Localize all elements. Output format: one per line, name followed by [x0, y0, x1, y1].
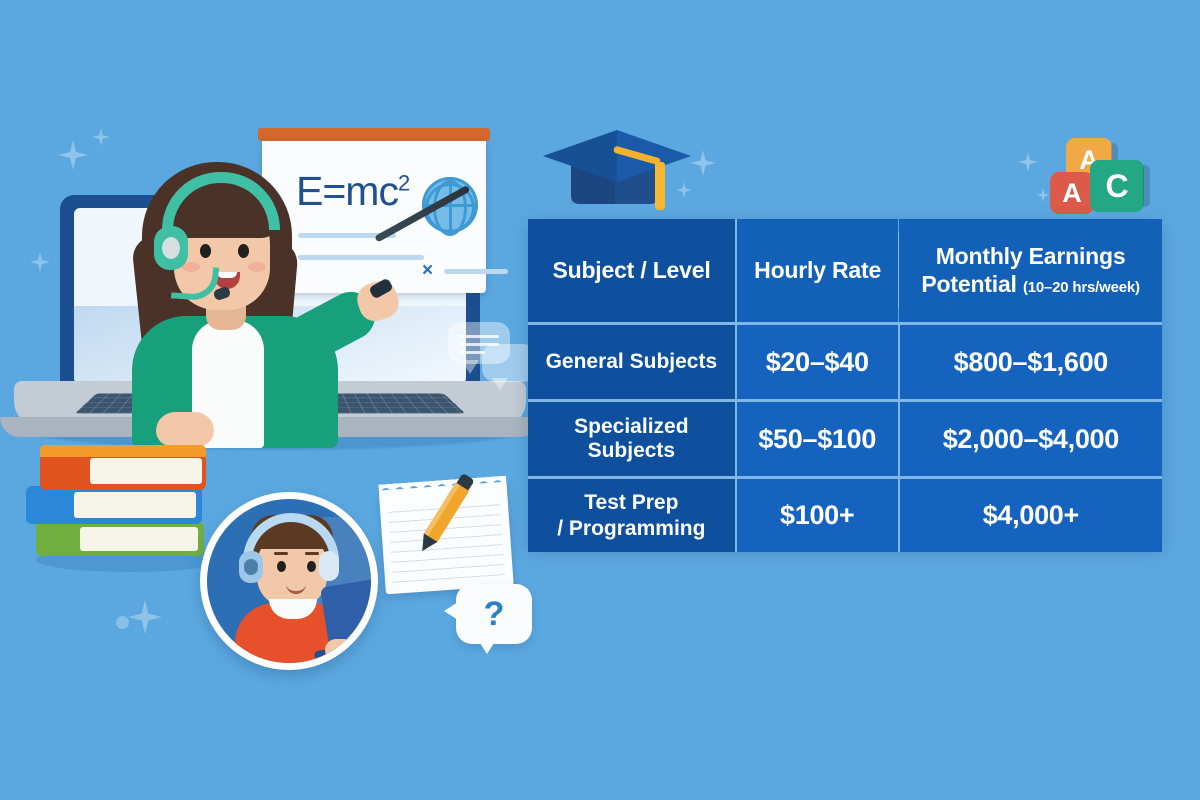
question-mark-icon: ?: [456, 584, 532, 644]
student-eye: [277, 561, 286, 572]
student-hand: [325, 639, 355, 661]
header-line-2-sub: (10–20 hrs/week): [1023, 279, 1140, 296]
sparkle-icon: [690, 150, 716, 176]
cell-subject-line-2: / Programming: [557, 516, 705, 541]
table-row: General Subjects $20–$40 $800–$1,600: [528, 325, 1162, 399]
headphones-earcup-icon: [239, 551, 263, 583]
sparkle-icon: [30, 252, 50, 272]
tutor-eye: [238, 244, 249, 258]
tutor-figure: [118, 140, 378, 430]
tutor-eye: [200, 244, 211, 258]
infographic-canvas: E=mc2 ×: [0, 0, 1200, 800]
x-mark-icon: ×: [422, 261, 433, 280]
cell-subject: General Subjects: [528, 325, 735, 399]
chat-bubbles-icon: [448, 322, 540, 394]
cell-hourly-rate: $100+: [737, 479, 898, 552]
sparkle-icon: [1018, 152, 1038, 172]
table-header-row: Subject / Level Hourly Rate Monthly Earn…: [528, 219, 1162, 322]
sparkle-icon: [58, 140, 88, 170]
cell-monthly-earnings: $800–$1,600: [900, 325, 1162, 399]
book-pages: [90, 458, 202, 484]
tutor-blush: [248, 262, 266, 272]
student-eye: [307, 561, 316, 572]
cell-subject-line-1: Test Prep: [557, 490, 705, 515]
cell-subject: Test Prep / Programming: [528, 479, 735, 552]
headset-earcup-icon: [154, 226, 188, 270]
header-line-1: Monthly Earnings: [921, 243, 1139, 270]
table-header-hourly-rate: Hourly Rate: [737, 219, 898, 322]
cap-tassel-cord: [655, 162, 665, 210]
student-avatar: [200, 492, 378, 670]
sparkle-icon: [92, 128, 110, 146]
abc-blocks-icon: A A C: [1050, 138, 1160, 216]
tutor-hand: [156, 412, 214, 446]
books-stack-illustration: [26, 448, 216, 564]
chat-bubble-line: [459, 351, 485, 354]
whiteboard-line: [444, 269, 508, 274]
sparkle-icon: [1036, 188, 1050, 202]
notepad-illustration: [378, 476, 513, 595]
abc-block-a-red: A: [1050, 172, 1094, 214]
chat-bubble-line: [459, 335, 499, 338]
cell-monthly-earnings: $4,000+: [900, 479, 1162, 552]
cell-monthly-earnings: $2,000–$4,000: [900, 402, 1162, 476]
cell-hourly-rate: $20–$40: [737, 325, 898, 399]
question-bubble: ?: [456, 584, 532, 644]
book-pages: [74, 492, 196, 518]
cell-subject: Specialized Subjects: [528, 402, 735, 476]
book-blue: [26, 486, 202, 524]
table-row: Test Prep / Programming $100+ $4,000+: [528, 479, 1162, 552]
sparkle-dot-icon: [116, 616, 129, 629]
abc-block-c-green: C: [1090, 160, 1144, 212]
header-line-2-main: Potential: [921, 271, 1016, 297]
headphones-earcup-icon: [319, 551, 339, 581]
table-header-monthly-earnings: Monthly Earnings Potential (10–20 hrs/we…: [899, 219, 1162, 322]
earnings-table: Subject / Level Hourly Rate Monthly Earn…: [528, 219, 1162, 546]
book-pages: [80, 527, 198, 551]
table-header-subject: Subject / Level: [528, 219, 735, 322]
table-row: Specialized Subjects $50–$100 $2,000–$4,…: [528, 402, 1162, 476]
graduation-cap-icon: [543, 122, 691, 214]
sparkle-icon: [128, 600, 162, 634]
book-spine-top: [40, 445, 206, 457]
book-green: [36, 522, 204, 556]
book-orange: [40, 452, 206, 490]
cell-hourly-rate: $50–$100: [737, 402, 898, 476]
